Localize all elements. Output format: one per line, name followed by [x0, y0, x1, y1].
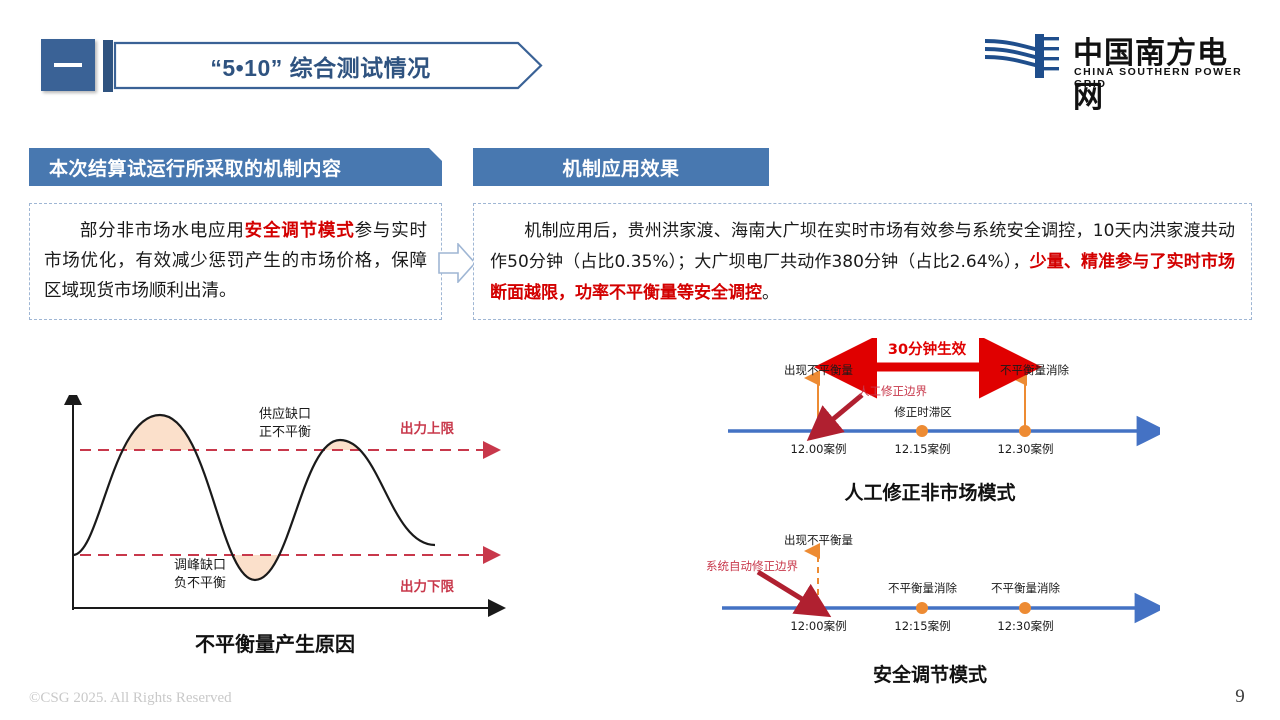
wave-fill-positive — [73, 415, 435, 625]
boundary-pointer-arrow — [758, 572, 810, 604]
timeline-tick-1: 12:00案例 — [766, 618, 871, 634]
imbalance-clear-label-2: 不平衡量消除 — [973, 580, 1078, 596]
imbalance-clear-label-1: 不平衡量消除 — [870, 580, 975, 596]
section-number-badge — [41, 39, 95, 91]
timeline-marker-3 — [1019, 602, 1031, 614]
csg-logo: 中国南方电网 CHINA SOUTHERN POWER GRID — [985, 30, 1253, 82]
timeline-marker-2 — [916, 602, 928, 614]
manual-correction-diagram: 30分钟生效 出现不平衡量 不平衡量消除 人工修正边界 修正时滞区 12.00案… — [700, 338, 1160, 478]
page-title: “5•10” 综合测试情况 — [113, 41, 528, 90]
timeline-tick-3: 12.30案例 — [973, 441, 1078, 457]
left-banner-title: 本次结算试运行所采取的机制内容 — [29, 148, 442, 186]
peak-annotation: 供应缺口 正不平衡 — [230, 406, 340, 442]
left-text-box: 部分非市场水电应用安全调节模式参与实时市场优化，有效减少惩罚产生的市场价格，保障… — [29, 203, 442, 320]
right-banner-title: 机制应用效果 — [473, 148, 769, 186]
right-section-banner: 机制应用效果 — [473, 148, 769, 186]
imbalance-appear-label: 出现不平衡量 — [766, 532, 871, 548]
page-number: 9 — [1228, 686, 1252, 708]
logo-english-name: CHINA SOUTHERN POWER GRID — [1074, 66, 1253, 90]
right-body-post: 。 — [762, 283, 779, 303]
manual-boundary-label: 人工修正边界 — [858, 383, 968, 399]
dash-icon — [54, 63, 82, 67]
right-body-text: 机制应用后，贵州洪家渡、海南大广坝在实时市场有效参与系统安全调控，10天内洪家渡… — [490, 216, 1235, 309]
left-body-highlight: 安全调节模式 — [245, 221, 355, 241]
left-section-banner: 本次结算试运行所采取的机制内容 — [29, 148, 442, 186]
upper-limit-label: 出力上限 — [400, 417, 510, 437]
manual-diagram-caption: 人工修正非市场模式 — [760, 478, 1100, 505]
timeline-tick-3: 12:30案例 — [973, 618, 1078, 634]
wave-chart-caption: 不平衡量产生原因 — [100, 628, 450, 657]
flow-connector-arrow — [438, 243, 476, 283]
lower-limit-label: 出力下限 — [400, 575, 510, 595]
csg-grid-lines-logo-icon — [985, 34, 1061, 78]
span-label: 30分钟生效 — [827, 338, 1027, 359]
lag-zone-label: 修正时滞区 — [875, 404, 971, 420]
timeline-tick-1: 12.00案例 — [766, 441, 871, 457]
boundary-pointer-arrow — [826, 395, 862, 425]
timeline-marker-2 — [916, 425, 928, 437]
auto-boundary-label: 系统自动修正边界 — [706, 558, 826, 574]
safety-adjust-diagram: 出现不平衡量 系统自动修正边界 不平衡量消除 不平衡量消除 12:00案例 12… — [700, 520, 1160, 660]
trough-annotation: 调峰缺口 负不平衡 — [145, 557, 255, 593]
timeline-tick-2: 12.15案例 — [870, 441, 975, 457]
timeline-tick-2: 12:15案例 — [870, 618, 975, 634]
left-body-text: 部分非市场水电应用安全调节模式参与实时市场优化，有效减少惩罚产生的市场价格，保障… — [44, 216, 427, 306]
slide-root: “5•10” 综合测试情况 中国南方电网 CHINA SOUTHERN POWE… — [0, 0, 1280, 720]
left-body-pre: 部分非市场水电应用 — [79, 221, 245, 241]
auto-diagram-caption: 安全调节模式 — [760, 660, 1100, 687]
right-text-box: 机制应用后，贵州洪家渡、海南大广坝在实时市场有效参与系统安全调控，10天内洪家渡… — [473, 203, 1252, 320]
imbalance-clear-label: 不平衡量消除 — [982, 362, 1087, 378]
imbalance-appear-label: 出现不平衡量 — [766, 362, 871, 378]
imbalance-cause-chart: 供应缺口 正不平衡 调峰缺口 负不平衡 出力上限 出力下限 — [40, 395, 510, 625]
footer-copyright: ©CSG 2025. All Rights Reserved — [29, 690, 232, 707]
header-accent-bar — [103, 40, 113, 92]
